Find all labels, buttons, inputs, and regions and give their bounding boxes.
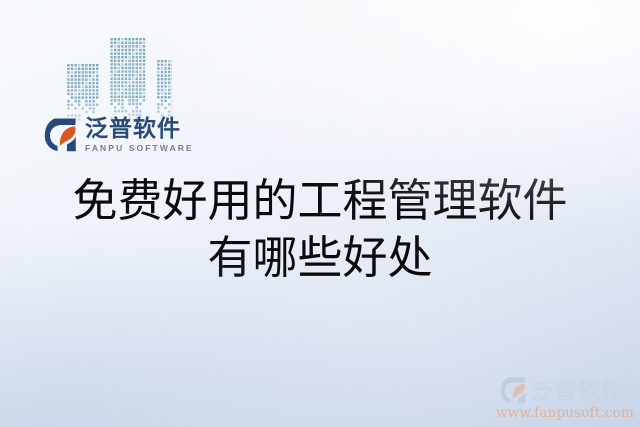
page-title-line-1: 免费好用的工程管理软件 bbox=[0, 172, 640, 229]
page-title: 免费好用的工程管理软件 有哪些好处 bbox=[0, 172, 640, 286]
pixel-skyline-icon bbox=[60, 34, 172, 122]
fanpu-hexagon-leaf-icon bbox=[44, 117, 78, 152]
watermark-url: www.fanpusoft.com bbox=[494, 405, 636, 421]
poster-canvas: 泛普软件 FANPU SOFTWARE 免费好用的工程管理软件 有哪些好处 泛普… bbox=[0, 0, 640, 427]
fanpu-hexagon-leaf-watermark-icon bbox=[500, 376, 527, 404]
brand-name-en: FANPU SOFTWARE bbox=[85, 144, 194, 153]
brand-wordmark: 泛普软件 FANPU SOFTWARE bbox=[85, 117, 194, 153]
page-title-line-2: 有哪些好处 bbox=[0, 229, 640, 286]
watermark-name-cn: 泛普软件 bbox=[532, 374, 624, 406]
brand-logo: 泛普软件 FANPU SOFTWARE bbox=[44, 117, 194, 153]
watermark-logo: 泛普软件 bbox=[494, 374, 636, 406]
brand-name-cn: 泛普软件 bbox=[85, 117, 194, 140]
watermark: 泛普软件 www.fanpusoft.com bbox=[494, 374, 636, 421]
